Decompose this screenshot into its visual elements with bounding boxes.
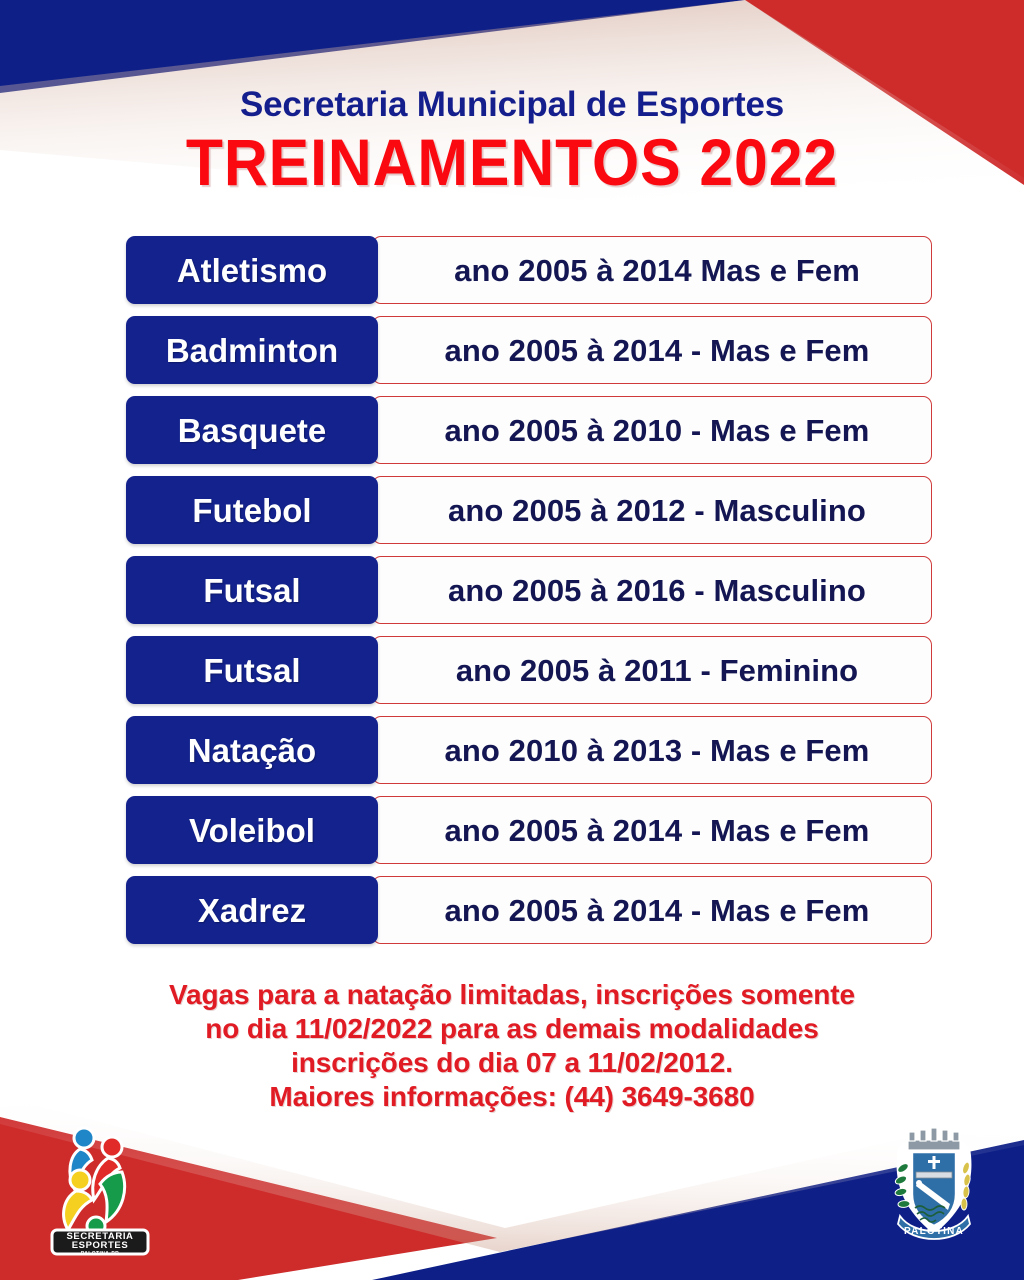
sport-details-box: ano 2005 à 2011 - Feminino (372, 636, 932, 704)
sport-label: Xadrez (126, 876, 378, 944)
sport-label: Futebol (126, 476, 378, 544)
sport-details-box: ano 2010 à 2013 - Mas e Fem (372, 716, 932, 784)
note-line: inscrições do dia 07 a 11/02/2012. (0, 1046, 1024, 1080)
secretaria-esportes-logo: SECRETARIA ESPORTES PALOTINA-PR (36, 1116, 164, 1258)
sport-name: Futsal (203, 574, 300, 607)
coat-of-arms-caption: PALOTINA (904, 1226, 964, 1237)
sport-details: ano 2005 à 2016 - Masculino (448, 575, 866, 606)
sport-label: Futsal (126, 636, 378, 704)
header: Secretaria Municipal de Esportes TREINAM… (0, 86, 1024, 196)
sport-details: ano 2005 à 2010 - Mas e Fem (445, 415, 870, 446)
sport-label: Basquete (126, 396, 378, 464)
sport-label: Natação (126, 716, 378, 784)
logo-line-3: PALOTINA-PR (81, 1251, 119, 1257)
training-table: Atletismo ano 2005 à 2014 Mas e Fem Badm… (126, 236, 932, 944)
page-title: TREINAMENTOS 2022 (41, 129, 983, 196)
sport-details-box: ano 2005 à 2014 - Mas e Fem (372, 316, 932, 384)
sport-details-box: ano 2005 à 2014 - Mas e Fem (372, 876, 932, 944)
sport-name: Badminton (166, 334, 338, 367)
sport-name: Natação (188, 734, 316, 767)
sport-details-box: ano 2005 à 2010 - Mas e Fem (372, 396, 932, 464)
sport-details: ano 2005 à 2014 Mas e Fem (454, 255, 860, 286)
logo-line-2: ESPORTES (72, 1240, 129, 1251)
sport-details: ano 2005 à 2014 - Mas e Fem (445, 335, 870, 366)
page-subtitle: Secretaria Municipal de Esportes (0, 86, 1024, 125)
table-row: Futsal ano 2005 à 2016 - Masculino (126, 556, 932, 624)
palotina-coat-of-arms: PALOTINA (878, 1124, 990, 1246)
sport-name: Basquete (178, 414, 327, 447)
sport-details-box: ano 2005 à 2014 - Mas e Fem (372, 796, 932, 864)
poster: Secretaria Municipal de Esportes TREINAM… (0, 0, 1024, 1280)
table-row: Voleibol ano 2005 à 2014 - Mas e Fem (126, 796, 932, 864)
palotina-coat-of-arms-svg: PALOTINA (878, 1124, 990, 1246)
sport-details: ano 2005 à 2012 - Masculino (448, 495, 866, 526)
note-line: Vagas para a natação limitadas, inscriçõ… (0, 978, 1024, 1012)
sport-details-box: ano 2005 à 2016 - Masculino (372, 556, 932, 624)
table-row: Natação ano 2010 à 2013 - Mas e Fem (126, 716, 932, 784)
sport-details: ano 2005 à 2011 - Feminino (456, 655, 858, 686)
note-line: no dia 11/02/2022 para as demais modalid… (0, 1012, 1024, 1046)
sport-name: Futebol (192, 494, 311, 527)
sport-label: Badminton (126, 316, 378, 384)
table-row: Futebol ano 2005 à 2012 - Masculino (126, 476, 932, 544)
table-row: Badminton ano 2005 à 2014 - Mas e Fem (126, 316, 932, 384)
sport-label: Futsal (126, 556, 378, 624)
sport-name: Voleibol (189, 814, 315, 847)
secretaria-esportes-logo-svg: SECRETARIA ESPORTES PALOTINA-PR (36, 1116, 164, 1258)
sport-details: ano 2010 à 2013 - Mas e Fem (445, 735, 870, 766)
sport-details-box: ano 2005 à 2014 Mas e Fem (372, 236, 932, 304)
sport-details: ano 2005 à 2014 - Mas e Fem (445, 895, 870, 926)
table-row: Basquete ano 2005 à 2010 - Mas e Fem (126, 396, 932, 464)
footer-note: Vagas para a natação limitadas, inscriçõ… (0, 978, 1024, 1115)
table-row: Xadrez ano 2005 à 2014 - Mas e Fem (126, 876, 932, 944)
table-row: Futsal ano 2005 à 2011 - Feminino (126, 636, 932, 704)
sport-name: Futsal (203, 654, 300, 687)
table-row: Atletismo ano 2005 à 2014 Mas e Fem (126, 236, 932, 304)
sport-name: Xadrez (198, 894, 306, 927)
sport-label: Atletismo (126, 236, 378, 304)
note-line: Maiores informações: (44) 3649-3680 (0, 1080, 1024, 1114)
sport-label: Voleibol (126, 796, 378, 864)
sport-details: ano 2005 à 2014 - Mas e Fem (445, 815, 870, 846)
sport-details-box: ano 2005 à 2012 - Masculino (372, 476, 932, 544)
sport-name: Atletismo (177, 254, 327, 287)
